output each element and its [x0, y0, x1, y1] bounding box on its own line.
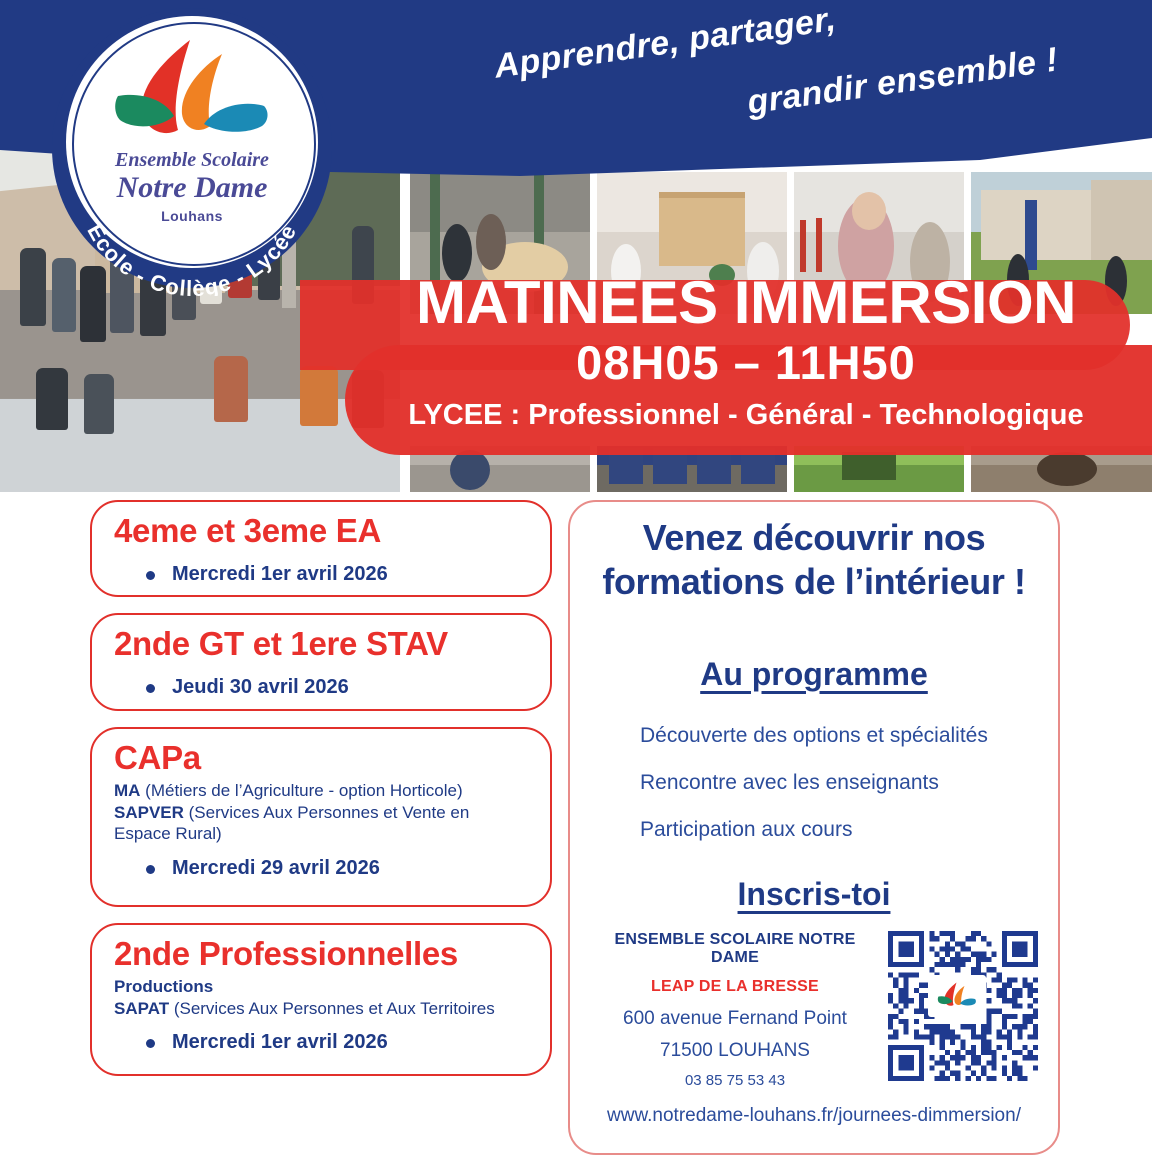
program-date: Mercredi 1er avril 2026: [114, 1031, 528, 1054]
program-date: Mercredi 29 avril 2026: [114, 857, 528, 880]
program-date: Mercredi 1er avril 2026: [114, 563, 528, 586]
program-subtitle: ProductionsSAPAT (Services Aux Personnes…: [114, 976, 528, 1020]
logo-line-3: Louhans: [52, 208, 332, 224]
program-title: 4eme et 3eme EA: [114, 512, 528, 551]
hero-banner-text: MATINEES IMMERSION 08H05 – 11H50 LYCEE :…: [340, 272, 1152, 433]
program-subtitle: MA (Métiers de l’Agriculture - option Ho…: [114, 780, 528, 845]
logo-line-2: Notre Dame: [52, 172, 332, 204]
address-line-2: 71500 LOUHANS: [590, 1040, 880, 1062]
program-title: 2nde Professionnelles: [114, 935, 528, 974]
program-card: CAPa MA (Métiers de l’Agriculture - opti…: [90, 727, 552, 907]
program-title: CAPa: [114, 739, 528, 778]
logo-wordmark: Ensemble Scolaire Notre Dame Louhans: [52, 150, 332, 224]
program-card: 2nde GT et 1ere STAV Jeudi 30 avril 2026: [90, 613, 552, 711]
website-url[interactable]: www.notredame-louhans.fr/journees-dimmer…: [590, 1105, 1038, 1127]
banner-title: MATINEES IMMERSION: [340, 272, 1152, 334]
hero-section: Apprendre, partager, grandir ensemble ! …: [0, 0, 1152, 492]
list-item: Découverte des options et spécialités: [640, 723, 1038, 748]
org-name: ENSEMBLE SCOLAIRE NOTRE DAME: [590, 931, 880, 967]
logo-flame-icon: [112, 34, 272, 154]
logo-line-1: Ensemble Scolaire: [52, 150, 332, 170]
program-title: 2nde GT et 1ere STAV: [114, 625, 528, 664]
qr-code[interactable]: [888, 931, 1038, 1081]
list-item: Rencontre avec les enseignants: [640, 770, 1038, 795]
school-logo: Ecole - Collège - Lycée Ensemble Scolair…: [52, 8, 332, 296]
poster-root: Apprendre, partager, grandir ensemble ! …: [0, 0, 1152, 1168]
content-area: 4eme et 3eme EA Mercredi 1er avril 2026 …: [0, 492, 1152, 1168]
program-card: 4eme et 3eme EA Mercredi 1er avril 2026: [90, 500, 552, 597]
list-item: Participation aux cours: [640, 817, 1038, 842]
address-line-1: 600 avenue Fernand Point: [590, 1008, 880, 1030]
info-panel: Venez découvrir nos formations de l’inté…: [568, 500, 1060, 1155]
programs-column: 4eme et 3eme EA Mercredi 1er avril 2026 …: [90, 500, 552, 1092]
section-title-inscription: Inscris-toi: [590, 876, 1038, 913]
phone-number: 03 85 75 53 43: [590, 1072, 880, 1089]
section-title-programme: Au programme: [590, 656, 1038, 693]
programme-list: Découverte des options et spécialités Re…: [590, 723, 1038, 843]
qr-logo-flame-icon: [935, 981, 979, 1011]
panel-heading: Venez découvrir nos formations de l’inté…: [590, 516, 1038, 604]
qr-center-logo: [928, 975, 986, 1017]
contact-block: ENSEMBLE SCOLAIRE NOTRE DAME LEAP DE LA …: [590, 931, 1038, 1089]
banner-subtitle: LYCEE : Professionnel - Général - Techno…: [340, 398, 1152, 433]
banner-time: 08H05 – 11H50: [340, 336, 1152, 390]
program-card: 2nde Professionnelles ProductionsSAPAT (…: [90, 923, 552, 1076]
program-date: Jeudi 30 avril 2026: [114, 676, 528, 699]
org-subname: LEAP DE LA BRESSE: [590, 978, 880, 996]
contact-text: ENSEMBLE SCOLAIRE NOTRE DAME LEAP DE LA …: [590, 931, 880, 1089]
svg-text:Ecole - Collège - Lycée: Ecole - Collège - Lycée: [82, 220, 301, 296]
